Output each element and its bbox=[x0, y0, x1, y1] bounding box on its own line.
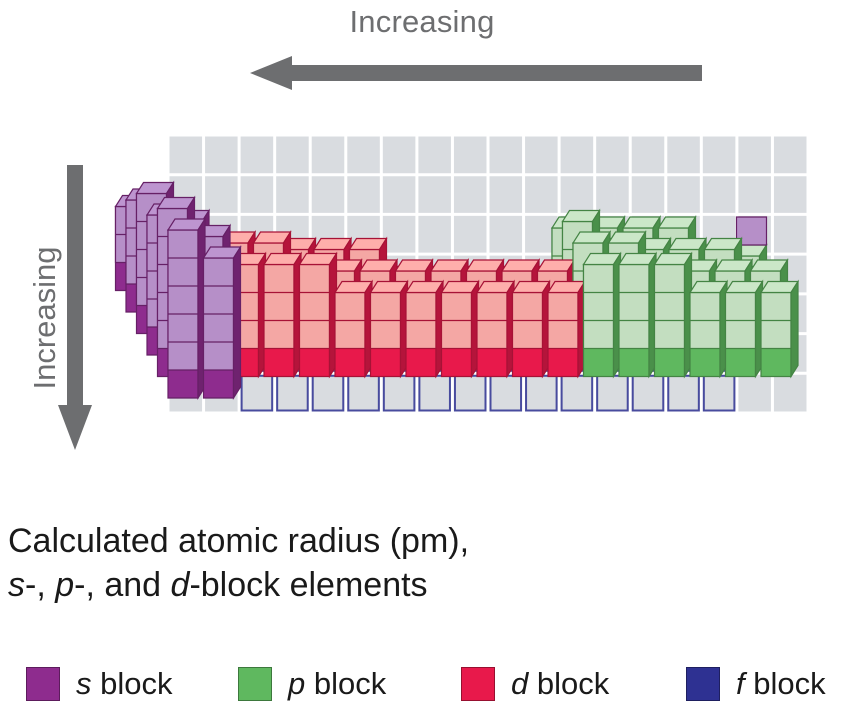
bar-column-group-12-period-6 bbox=[548, 282, 585, 377]
top-arrow-label: Increasing bbox=[0, 4, 844, 40]
bar-column-group-11-period-6 bbox=[513, 282, 550, 377]
bar-column-group-10-period-6 bbox=[477, 282, 514, 377]
bar-light-body bbox=[619, 265, 649, 349]
bar-column-group-14-period-6 bbox=[619, 254, 656, 377]
legend-item-f-block: f block bbox=[686, 662, 826, 706]
caption-line-1: Calculated atomic radius (pm), bbox=[8, 520, 708, 564]
bar-side-face bbox=[234, 247, 241, 398]
legend-letter: d bbox=[511, 666, 528, 701]
legend-swatch-f-block bbox=[686, 667, 720, 701]
legend-letter: p bbox=[288, 666, 305, 701]
legend-label-d-block: d block bbox=[511, 666, 609, 702]
bar-column-group-15-period-6 bbox=[655, 254, 692, 377]
bar-column-group-18-period-6 bbox=[761, 282, 798, 377]
bar-light-body bbox=[584, 265, 614, 349]
legend-item-p-block: p block bbox=[238, 662, 386, 706]
bar-column-group-6-period-6 bbox=[335, 282, 372, 377]
caption-line-2: s-, p-, and d-block elements bbox=[8, 564, 708, 608]
bar-column-group-2-period-7 bbox=[204, 247, 241, 398]
chart-caption: Calculated atomic radius (pm), s-, p-, a… bbox=[8, 520, 708, 608]
legend-word: block bbox=[745, 666, 826, 701]
legend-letter: f bbox=[736, 666, 745, 701]
bar-column-group-7-period-6 bbox=[371, 282, 408, 377]
legend-swatch-s-block bbox=[26, 667, 60, 701]
legend-item-d-block: d block bbox=[461, 662, 609, 706]
bar-light-body bbox=[168, 230, 198, 370]
bar-column-group-16-period-6 bbox=[690, 282, 727, 377]
legend-letter: s bbox=[76, 666, 92, 701]
legend-label-s-block: s block bbox=[76, 666, 172, 702]
legend-label-f-block: f block bbox=[736, 666, 826, 702]
atomic-radius-3d-chart bbox=[0, 80, 844, 500]
bar-column-group-9-period-6 bbox=[442, 282, 479, 377]
bar-column-group-13-period-6 bbox=[584, 254, 621, 377]
legend-swatch-d-block bbox=[461, 667, 495, 701]
legend-swatch-p-block bbox=[238, 667, 272, 701]
legend-item-s-block: s block bbox=[26, 662, 172, 706]
bar-column-group-8-period-6 bbox=[406, 282, 443, 377]
bar-column-group-4-period-6 bbox=[264, 254, 301, 377]
bar-light-body bbox=[264, 265, 294, 349]
bar-column-group-1-period-7 bbox=[168, 219, 205, 398]
legend-word: block bbox=[528, 666, 609, 701]
legend-label-p-block: p block bbox=[288, 666, 386, 702]
legend-word: block bbox=[305, 666, 386, 701]
bar-light-body bbox=[655, 265, 685, 349]
bar-side-face bbox=[791, 282, 798, 377]
bar-column-group-5-period-6 bbox=[300, 254, 337, 377]
chart-svg bbox=[0, 80, 844, 500]
bar-light-body bbox=[300, 265, 330, 349]
chart-legend: s blockp blockd blockf block bbox=[0, 662, 844, 710]
legend-word: block bbox=[92, 666, 173, 701]
bar-column-group-17-period-6 bbox=[726, 282, 763, 377]
